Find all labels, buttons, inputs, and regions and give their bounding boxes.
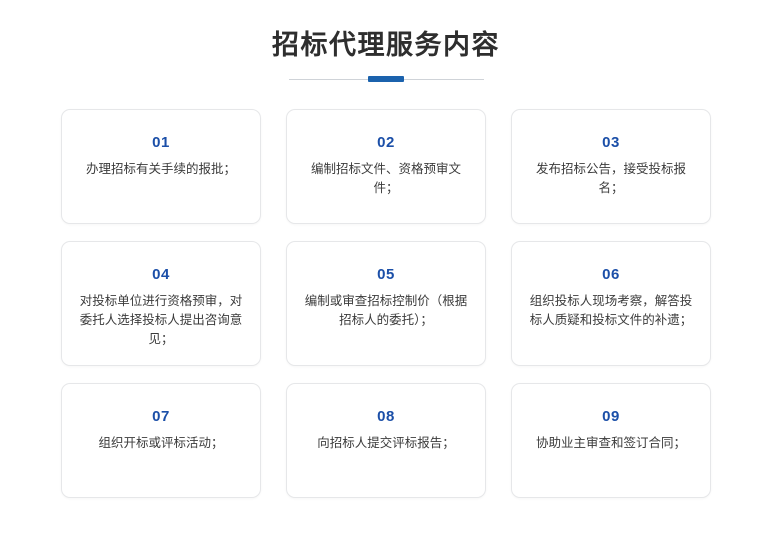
service-card[interactable]: 04 对投标单位进行资格预审，对委托人选择投标人提出咨询意见； xyxy=(61,241,261,366)
section-header: 招标代理服务内容 xyxy=(0,0,772,84)
card-number: 09 xyxy=(526,407,696,427)
service-card[interactable]: 08 向招标人提交评标报告； xyxy=(286,383,486,498)
card-text: 组织开标或评标活动； xyxy=(76,434,246,453)
card-number: 05 xyxy=(301,265,471,285)
card-text: 编制招标文件、资格预审文件； xyxy=(301,160,471,198)
service-cards-grid: 01 办理招标有关手续的报批； 02 编制招标文件、资格预审文件； 03 发布招… xyxy=(61,109,711,498)
card-text: 向招标人提交评标报告； xyxy=(301,434,471,453)
card-number: 06 xyxy=(526,265,696,285)
title-divider-accent xyxy=(368,76,404,82)
service-card[interactable]: 06 组织投标人现场考察，解答投标人质疑和投标文件的补遗； xyxy=(511,241,711,366)
service-card[interactable]: 07 组织开标或评标活动； xyxy=(61,383,261,498)
service-card[interactable]: 05 编制或审查招标控制价（根据招标人的委托）； xyxy=(286,241,486,366)
card-text: 对投标单位进行资格预审，对委托人选择投标人提出咨询意见； xyxy=(76,292,246,349)
page-title: 招标代理服务内容 xyxy=(0,28,772,62)
card-number: 08 xyxy=(301,407,471,427)
card-number: 04 xyxy=(76,265,246,285)
card-text: 协助业主审查和签订合同； xyxy=(526,434,696,453)
title-divider xyxy=(289,76,484,84)
card-text: 组织投标人现场考察，解答投标人质疑和投标文件的补遗； xyxy=(526,292,696,330)
service-card[interactable]: 01 办理招标有关手续的报批； xyxy=(61,109,261,224)
card-text: 发布招标公告，接受投标报名； xyxy=(526,160,696,198)
card-number: 01 xyxy=(76,133,246,153)
card-text: 编制或审查招标控制价（根据招标人的委托）； xyxy=(301,292,471,330)
card-number: 03 xyxy=(526,133,696,153)
card-number: 02 xyxy=(301,133,471,153)
card-text: 办理招标有关手续的报批； xyxy=(76,160,246,179)
card-number: 07 xyxy=(76,407,246,427)
service-content-page: 招标代理服务内容 01 办理招标有关手续的报批； 02 编制招标文件、资格预审文… xyxy=(0,0,772,535)
service-card[interactable]: 03 发布招标公告，接受投标报名； xyxy=(511,109,711,224)
service-card[interactable]: 02 编制招标文件、资格预审文件； xyxy=(286,109,486,224)
service-card[interactable]: 09 协助业主审查和签订合同； xyxy=(511,383,711,498)
